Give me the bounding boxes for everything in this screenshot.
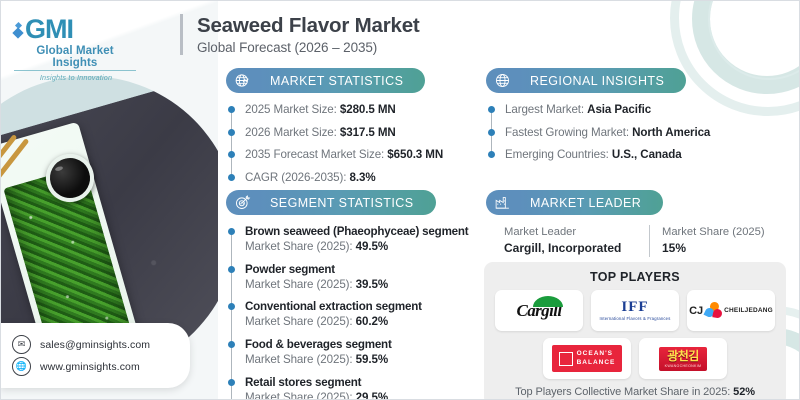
- market-leader-key: Market Leader: [504, 225, 649, 240]
- segment-share-label: Market Share (2025):: [245, 278, 353, 291]
- regional-insights-list: Largest Market: Asia Pacific Fastest Gro…: [486, 102, 710, 163]
- top-players-card: TOP PLAYERS Cargill IFF International Fl…: [484, 262, 786, 400]
- collective-share-value: 52%: [733, 386, 755, 398]
- diamond-icon: [14, 23, 22, 37]
- market-share-value: 15%: [662, 240, 765, 257]
- list-item: Retail stores segment Market Share (2025…: [245, 375, 468, 400]
- bullet-dot: [228, 129, 235, 136]
- region-label: Fastest Growing Market:: [505, 126, 629, 139]
- list-item: Fastest Growing Market: North America: [505, 125, 710, 141]
- stat-label: 2035 Forecast Market Size:: [245, 148, 384, 161]
- oceans-balance-mark-icon: [559, 352, 573, 366]
- list-item: Conventional extraction segment Market S…: [245, 299, 468, 330]
- regional-insights-badge: REGIONAL INSIGHTS: [486, 68, 686, 93]
- segment-name: Powder segment: [245, 262, 468, 277]
- timeline-line: [231, 108, 233, 180]
- stat-value: 8.3%: [350, 171, 376, 184]
- list-item: Brown seaweed (Phaeophyceae) segment Mar…: [245, 224, 468, 255]
- segment-share-label: Market Share (2025):: [245, 391, 353, 400]
- globe-icon: 🌐: [12, 357, 31, 376]
- bullet-dot: [228, 303, 235, 310]
- logo-tagline: Insights to Innovation: [14, 73, 138, 82]
- iff-logo-subtext: International Flavors & Fragrances: [599, 317, 670, 321]
- region-label: Emerging Countries:: [505, 148, 609, 161]
- contact-email-row[interactable]: ✉ sales@gminsights.com: [12, 335, 180, 354]
- title-block: Seaweed Flavor Market Global Forecast (2…: [180, 14, 420, 55]
- top-players-row-1: Cargill IFF International Flavors & Frag…: [494, 290, 776, 331]
- stat-label: 2025 Market Size:: [245, 103, 337, 116]
- region-value: North America: [632, 126, 710, 139]
- cargill-logo[interactable]: Cargill: [495, 290, 583, 331]
- segment-statistics-panel: SEGMENT STATISTICS Brown seaweed (Phaeop…: [226, 190, 468, 400]
- market-leader-details: Market Leader Cargill, Incorporated Mark…: [486, 225, 786, 257]
- oceans-balance-logo[interactable]: OCEAN'SBALANCE: [543, 338, 631, 379]
- bullet-dot: [228, 106, 235, 113]
- market-leader-badge: MARKET LEADER: [486, 190, 663, 215]
- iff-logo-text: IFF: [621, 300, 648, 315]
- regional-insights-label: REGIONAL INSIGHTS: [519, 68, 686, 93]
- stat-label: CAGR (2026-2035):: [245, 171, 346, 184]
- list-item: 2026 Market Size: $317.5 MN: [245, 125, 443, 141]
- segment-name: Retail stores segment: [245, 375, 468, 390]
- list-item: 2025 Market Size: $280.5 MN: [245, 102, 443, 118]
- segment-name: Conventional extraction segment: [245, 299, 468, 314]
- list-item: Emerging Countries: U.S., Canada: [505, 147, 710, 163]
- regional-insights-panel: REGIONAL INSIGHTS Largest Market: Asia P…: [486, 68, 710, 163]
- top-players-row-2: OCEAN'SBALANCE 광천김 KWANGCHEONKIM: [494, 338, 776, 379]
- bullet-dot: [488, 151, 495, 158]
- oceans-balance-logo-text: OCEAN'SBALANCE: [577, 350, 616, 366]
- cj-blossom-icon: [705, 302, 722, 319]
- market-statistics-label: MARKET STATISTICS: [259, 68, 425, 93]
- segment-share-value: 59.5%: [356, 353, 388, 366]
- market-statistics-panel: MARKET STATISTICS 2025 Market Size: $280…: [226, 68, 443, 186]
- segment-share-value: 39.5%: [356, 278, 388, 291]
- market-leader-panel: MARKET LEADER Market Leader Cargill, Inc…: [486, 190, 786, 257]
- segment-share-label: Market Share (2025):: [245, 353, 353, 366]
- cj-logo-text: CHEILJEDANG: [724, 307, 773, 314]
- globe-chart-icon: [226, 68, 259, 93]
- segment-share-value: 49.5%: [356, 240, 388, 253]
- contact-email: sales@gminsights.com: [40, 339, 150, 351]
- market-leader-name-block: Market Leader Cargill, Incorporated: [504, 225, 649, 257]
- envelope-icon: ✉: [12, 335, 31, 354]
- factory-icon: [486, 190, 519, 215]
- bullet-dot: [488, 106, 495, 113]
- region-value: U.S., Canada: [612, 148, 682, 161]
- contact-website: www.gminsights.com: [40, 361, 140, 373]
- kwangcheonkim-logo[interactable]: 광천김 KWANGCHEONKIM: [639, 338, 727, 379]
- region-value: Asia Pacific: [587, 103, 651, 116]
- market-leader-share-block: Market Share (2025) 15%: [649, 225, 765, 257]
- segment-statistics-list: Brown seaweed (Phaeophyceae) segment Mar…: [226, 224, 468, 400]
- segment-statistics-badge: SEGMENT STATISTICS: [226, 190, 436, 215]
- segment-share-label: Market Share (2025):: [245, 315, 353, 328]
- segment-name: Brown seaweed (Phaeophyceae) segment: [245, 224, 468, 239]
- bullet-dot: [228, 151, 235, 158]
- contact-card: ✉ sales@gminsights.com 🌐 www.gminsights.…: [0, 323, 190, 388]
- logo-company-name: Global Market Insights: [14, 45, 136, 71]
- infographic-canvas: ✉ sales@gminsights.com 🌐 www.gminsights.…: [0, 0, 800, 400]
- timeline-line: [231, 230, 233, 400]
- market-leader-value: Cargill, Incorporated: [504, 240, 649, 257]
- stat-label: 2026 Market Size:: [245, 126, 337, 139]
- market-statistics-badge: MARKET STATISTICS: [226, 68, 425, 93]
- gmi-logo[interactable]: GMI Global Market Insights Insights to I…: [14, 16, 138, 82]
- logo-wordmark: GMI: [14, 16, 138, 43]
- top-players-footer: Top Players Collective Market Share in 2…: [494, 386, 776, 398]
- stat-value: $317.5 MN: [340, 126, 396, 139]
- stat-value: $280.5 MN: [340, 103, 396, 116]
- bullet-dot: [228, 379, 235, 386]
- segment-name: Food & beverages segment: [245, 337, 468, 352]
- iff-logo[interactable]: IFF International Flavors & Fragrances: [591, 290, 679, 331]
- bullet-dot: [228, 266, 235, 273]
- market-statistics-list: 2025 Market Size: $280.5 MN 2026 Market …: [226, 102, 443, 186]
- cargill-logo-text: Cargill: [517, 301, 562, 321]
- segment-share-value: 29.5%: [356, 391, 388, 400]
- region-label: Largest Market:: [505, 103, 584, 116]
- list-item: Powder segment Market Share (2025): 39.5…: [245, 262, 468, 293]
- bullet-dot: [228, 228, 235, 235]
- top-players-title: TOP PLAYERS: [494, 270, 776, 284]
- kwangcheonkim-logo-subtext: KWANGCHEONKIM: [665, 364, 702, 368]
- bullet-dot: [228, 341, 235, 348]
- list-item: 2035 Forecast Market Size: $650.3 MN: [245, 147, 443, 163]
- market-leader-label: MARKET LEADER: [519, 190, 663, 215]
- list-item: CAGR (2026-2035): 8.3%: [245, 170, 443, 186]
- bullet-dot: [488, 129, 495, 136]
- target-chart-icon: [226, 190, 259, 215]
- list-item: Food & beverages segment Market Share (2…: [245, 337, 468, 368]
- market-share-key: Market Share (2025): [662, 225, 765, 240]
- segment-share-value: 60.2%: [356, 315, 388, 328]
- cj-cheiljedang-logo[interactable]: CJ CHEILJEDANG: [687, 290, 775, 331]
- collective-share-label: Top Players Collective Market Share in 2…: [515, 386, 730, 398]
- list-item: Largest Market: Asia Pacific: [505, 102, 710, 118]
- stat-value: $650.3 MN: [387, 148, 443, 161]
- page-title: Seaweed Flavor Market: [197, 14, 420, 38]
- page-subtitle: Global Forecast (2026 – 2035): [197, 40, 420, 55]
- logo-text: GMI: [25, 16, 73, 43]
- globe-icon: [486, 68, 519, 93]
- segment-share-label: Market Share (2025):: [245, 240, 353, 253]
- bullet-dot: [228, 174, 235, 181]
- segment-statistics-label: SEGMENT STATISTICS: [259, 190, 436, 215]
- contact-website-row[interactable]: 🌐 www.gminsights.com: [12, 357, 180, 376]
- kwangcheonkim-logo-text: 광천김: [667, 350, 699, 362]
